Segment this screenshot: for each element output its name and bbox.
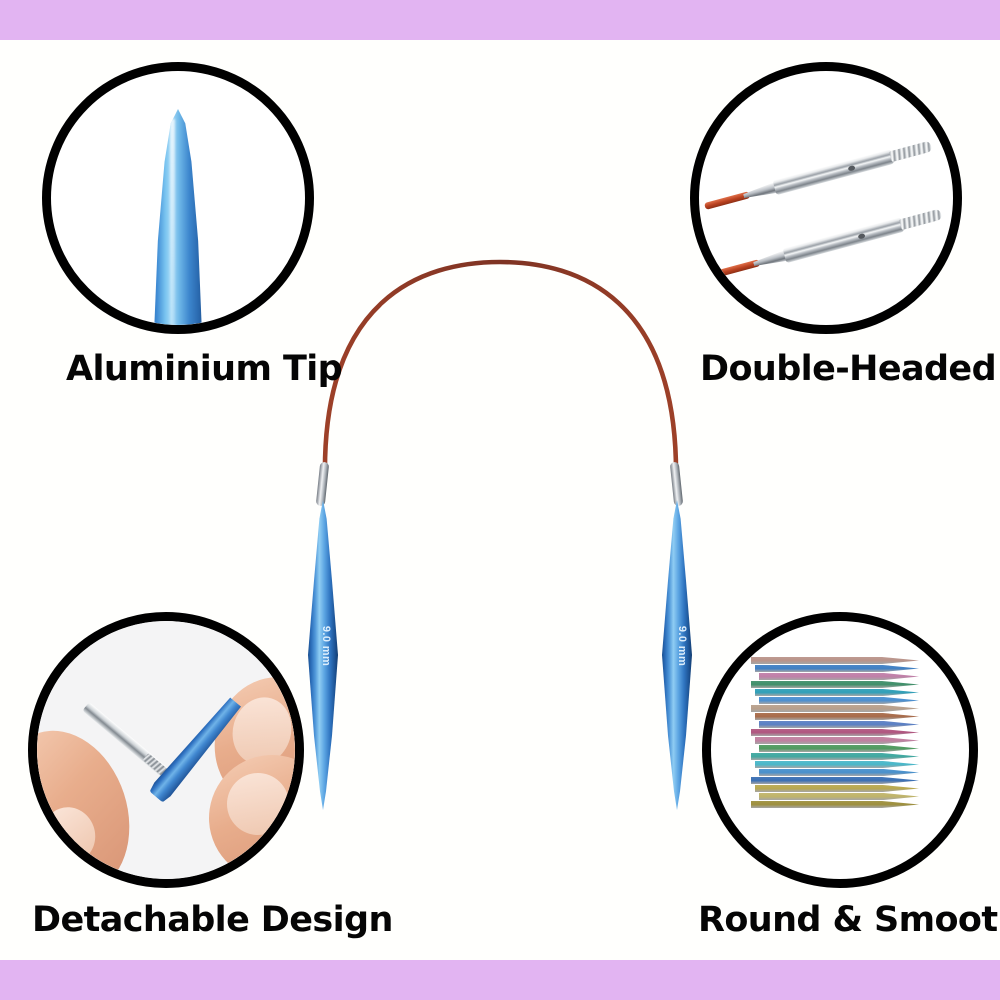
needle-tip-layer: [755, 665, 919, 672]
aluminium-tip-photo: [51, 71, 305, 325]
connector-thread-lower: [899, 209, 942, 230]
needle-tip-layer: [759, 745, 919, 752]
needle-tip-layer: [759, 697, 919, 704]
needle-tip-layer: [751, 705, 919, 712]
needle-tip-layer: [759, 673, 919, 680]
needle-tip-layer: [751, 753, 919, 760]
needle-tip-layer: [759, 721, 919, 728]
needle-cable: [325, 262, 676, 478]
needle-tip-layer: [755, 689, 919, 696]
needle-tip-layer: [751, 729, 919, 736]
connector-cable-end-upper: [704, 191, 750, 210]
feature-circle-aluminium-tip: [42, 62, 314, 334]
cable-ferrule-left: [316, 462, 330, 507]
bottom-purple-band: [0, 960, 1000, 1000]
needle-size-label-right: 9.0 mm: [676, 616, 688, 676]
infographic-canvas: 9.0 mm 9.0 mm Aluminium Tip Double-Heade…: [0, 0, 1000, 1000]
feature-circle-detachable-design: [28, 612, 304, 888]
feature-circle-double-headed: [690, 62, 962, 334]
needle-tip-layer: [755, 713, 919, 720]
feature-label-aluminium-tip: Aluminium Tip: [66, 352, 342, 387]
connector-barrel-lower: [783, 217, 905, 263]
connector-thread-upper: [889, 141, 932, 162]
feature-label-round-and-smooth: Round & Smooth: [698, 903, 1000, 938]
needle-size-label-left: 9.0 mm: [320, 616, 332, 676]
needle-tip-layer: [755, 737, 919, 744]
feature-label-detachable-design: Detachable Design: [32, 903, 393, 938]
needle-tip-layer: [759, 769, 919, 776]
top-purple-band: [0, 0, 1000, 40]
needle-shaft-right: [662, 500, 692, 810]
needle-tip-layer: [755, 785, 919, 792]
needle-tip-layer: [751, 657, 919, 664]
connector-barrel-upper: [773, 149, 895, 195]
round-and-smooth-photo: [711, 621, 969, 879]
connector-cable-end-lower: [714, 259, 760, 278]
needle-tip-layer: [751, 681, 919, 688]
feature-label-double-headed: Double-Headed: [700, 352, 996, 387]
cable-ferrule-right: [670, 462, 684, 507]
needle-tip-layer: [755, 761, 919, 768]
connector-upper: [703, 199, 707, 213]
needle-tip-stack: [751, 657, 929, 857]
needle-tip-layer: [751, 801, 919, 808]
aluminium-needle-tip: [150, 109, 206, 325]
feature-circle-round-and-smooth: [702, 612, 978, 888]
needle-tip-layer: [759, 793, 919, 800]
connector-lower: [713, 267, 717, 281]
double-headed-photo: [699, 71, 953, 325]
detachable-design-photo: [37, 621, 295, 879]
needle-shaft-left: [308, 500, 338, 810]
needle-tip-layer: [751, 777, 919, 784]
